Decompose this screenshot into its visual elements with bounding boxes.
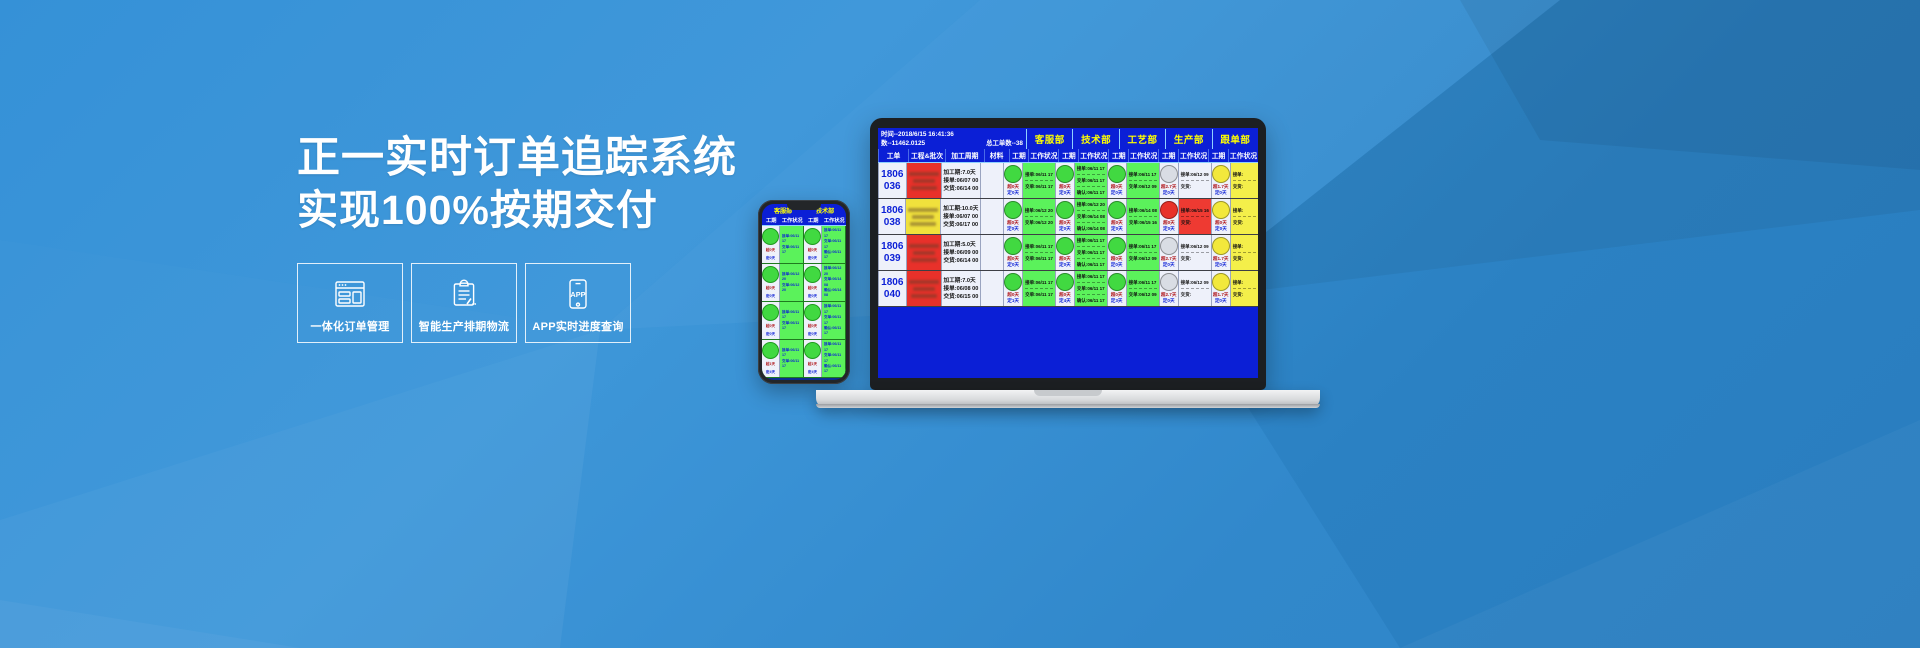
status-dot xyxy=(762,304,779,321)
status-dot xyxy=(1056,201,1074,219)
overdue-tag: 超0天 xyxy=(1007,184,1019,190)
phone-col-label: 工作状况 xyxy=(780,216,804,225)
divider xyxy=(1181,180,1209,181)
cycle-line: 加工期:10.0天 xyxy=(943,205,978,213)
divider xyxy=(1181,252,1209,253)
status-line: 确认:06/14 08 xyxy=(1077,225,1105,232)
status-dot xyxy=(1212,165,1230,183)
status-dot xyxy=(1004,165,1022,183)
material-cell[interactable] xyxy=(980,235,1003,270)
phone-status-cell: 接单:06/11 17交单:06/11 17 xyxy=(780,302,804,339)
remaining-tag: 定0天 xyxy=(1007,190,1019,196)
remaining-tag: 定0天 xyxy=(1163,190,1175,196)
overdue-tag: 超0天 xyxy=(1163,220,1175,226)
remaining-tag: 定4天 xyxy=(766,370,775,375)
status-line: 交货: xyxy=(1233,219,1256,226)
dashboard-col-label[interactable]: 工程&批次 xyxy=(908,149,945,162)
order-number-cell[interactable]: 1806039 xyxy=(878,235,906,270)
remaining-tag: 定1天 xyxy=(1007,298,1019,304)
remaining-tag: 定0天 xyxy=(1163,226,1175,232)
dashboard-amount: 数--11462.0125 xyxy=(881,139,925,148)
overdue-tag: 超0天 xyxy=(766,248,775,253)
remaining-tag: 定0天 xyxy=(766,332,775,337)
work-status-cell[interactable]: 接单:06/11 17交单:06/11 17 xyxy=(1022,271,1055,306)
dashboard-col-label[interactable]: 材料 xyxy=(984,149,1009,162)
processing-cycle-cell: 加工期:10.0天接单:06/07 00交货:06/17 00 xyxy=(940,199,980,234)
divider xyxy=(1025,216,1053,217)
status-line: 交单:06/11 17 xyxy=(1025,291,1053,298)
cycle-line: 接单:06/07 00 xyxy=(943,213,978,221)
duration-cell: 超0天定0天 xyxy=(1055,199,1074,234)
status-line: 接单: xyxy=(1233,243,1256,250)
cycle-line: 交货:06/14 00 xyxy=(944,257,979,265)
work-status-cell[interactable]: 接单:交货: xyxy=(1230,235,1258,270)
phone-duration-cell: 超0天定0天 xyxy=(762,302,780,339)
remaining-tag: 定0天 xyxy=(1215,190,1227,196)
project-batch-cell[interactable] xyxy=(906,271,941,306)
duration-cell: 超2.7天定0天 xyxy=(1159,271,1178,306)
overdue-tag: 超2.7天 xyxy=(1161,184,1177,190)
work-status-cell[interactable]: 接单:06/12 09交货: xyxy=(1178,271,1211,306)
overdue-tag: 超0天 xyxy=(1111,256,1123,262)
work-status-cell[interactable]: 接单:06/11 17交单:06/12 09 xyxy=(1126,163,1159,198)
dashboard-meta: 时间--2018/6/15 16:41:36 数--11462.0125 总工单… xyxy=(878,129,1026,149)
status-line: 交单:06/15 16 xyxy=(1129,219,1157,226)
cycle-line: 交货:06/15 00 xyxy=(944,293,979,301)
dashboard-col-label[interactable]: 工作状况 xyxy=(1028,149,1058,162)
dashboard-order-table: 1806036加工期:7.0天接单:06/07 00交货:06/14 00超0天… xyxy=(878,163,1258,307)
overdue-tag: 超1.7天 xyxy=(1213,256,1229,262)
divider xyxy=(1077,174,1105,175)
status-dot xyxy=(1108,165,1126,183)
cycle-line: 加工期:7.0天 xyxy=(944,277,979,285)
dashboard-dept-label[interactable]: 技术部 xyxy=(1072,129,1118,149)
mobile-app-icon: APP xyxy=(566,276,590,312)
dashboard-col-label[interactable]: 加工周期 xyxy=(945,149,984,162)
status-line: 交单:06/12 20 xyxy=(782,283,801,294)
cycle-line: 接单:06/09 00 xyxy=(944,249,979,257)
remaining-tag: 定0天 xyxy=(1163,298,1175,304)
status-line: 交货: xyxy=(1181,219,1209,226)
cycle-line: 加工期:5.0天 xyxy=(944,241,979,249)
divider xyxy=(1077,210,1105,211)
remaining-tag: 定0天 xyxy=(1059,262,1071,268)
divider xyxy=(1129,288,1157,289)
phone-status-cell: 接单:06/11 17交单:06/11 17 xyxy=(780,226,804,263)
divider xyxy=(1233,288,1256,289)
status-dot xyxy=(762,228,779,245)
duration-cell: 超0天定0天 xyxy=(1055,235,1074,270)
overdue-tag: 超0天 xyxy=(1059,292,1071,298)
divider xyxy=(1025,288,1053,289)
status-dot xyxy=(1004,237,1022,255)
overdue-tag: 超0天 xyxy=(766,286,775,291)
status-dot xyxy=(1212,237,1230,255)
remaining-tag: 定0天 xyxy=(1111,262,1123,268)
order-number-part: 038 xyxy=(884,217,901,229)
order-number-part: 1806 xyxy=(881,241,903,253)
laptop-screen[interactable]: 时间--2018/6/15 16:41:36 数--11462.0125 总工单… xyxy=(878,128,1258,378)
divider xyxy=(1181,288,1209,289)
status-line: 接单:06/11 17 xyxy=(782,348,801,359)
overdue-tag: 超2.7天 xyxy=(1161,256,1177,262)
status-line: 接单:06/12 20 xyxy=(1025,207,1053,214)
remaining-tag: 定0天 xyxy=(1111,190,1123,196)
duration-cell: 超0天定0天 xyxy=(1003,163,1022,198)
overdue-tag: 超0天 xyxy=(1007,256,1019,262)
status-dot xyxy=(1160,237,1178,255)
work-status-cell[interactable]: 接单:06/11 17交单:06/11 17确认:06/11 17 xyxy=(1074,235,1107,270)
status-line: 交单:06/11 17 xyxy=(1077,285,1105,292)
work-status-cell[interactable]: 接单:06/12 20交单:06/14 08确认:06/14 08 xyxy=(1074,199,1107,234)
divider xyxy=(1077,222,1105,223)
status-line: 交单:06/11 17 xyxy=(1077,249,1105,256)
status-line: 接单:06/11 17 xyxy=(1077,165,1105,172)
status-dot xyxy=(1056,237,1074,255)
project-batch-cell[interactable] xyxy=(905,199,940,234)
redacted-text xyxy=(913,179,935,183)
dashboard-col-label[interactable]: 工期 xyxy=(1009,149,1029,162)
overdue-tag: 超0天 xyxy=(1007,220,1019,226)
phone-duration-cell: 超1天定4天 xyxy=(762,340,780,377)
headline-line-1: 正一实时订单追踪系统 xyxy=(297,132,717,184)
feature-label: 智能生产排期物流 xyxy=(419,318,509,334)
overdue-tag: 超0天 xyxy=(1215,220,1227,226)
phone-duration-cell: 超0天定0天 xyxy=(762,264,780,301)
dashboard-col-label[interactable]: 工期 xyxy=(1058,149,1078,162)
duration-cell: 超0天定3天 xyxy=(1107,271,1126,306)
dashboard-total-orders: 总工单数--38 xyxy=(986,139,1023,148)
status-line: 接单: xyxy=(1233,207,1256,214)
status-dot xyxy=(762,342,779,359)
divider xyxy=(1233,252,1256,253)
dashboard-order-row[interactable]: 1806040加工期:7.0天接单:06/08 00交货:06/15 00超0天… xyxy=(878,271,1258,307)
dashboard-order-row[interactable]: 1806036加工期:7.0天接单:06/07 00交货:06/14 00超0天… xyxy=(878,163,1258,199)
redacted-text xyxy=(909,244,939,248)
status-line: 交货: xyxy=(1233,255,1256,262)
divider xyxy=(1077,294,1105,295)
dashboard-col-label[interactable]: 工期 xyxy=(1208,149,1228,162)
duration-cell: 超0天定0天 xyxy=(1107,163,1126,198)
status-line: 接单:06/12 09 xyxy=(1181,171,1209,178)
duration-cell: 超1.7天定0天 xyxy=(1211,163,1230,198)
status-dot xyxy=(1212,273,1230,291)
processing-cycle-cell: 加工期:7.0天接单:06/07 00交货:06/14 00 xyxy=(941,163,981,198)
status-line: 接单:06/12 20 xyxy=(1077,201,1105,208)
status-line: 接单:06/14 08 xyxy=(1129,207,1157,214)
work-status-cell[interactable]: 接单:交货: xyxy=(1230,199,1258,234)
feature-card-app-progress[interactable]: APP APP实时进度查询 xyxy=(525,263,631,343)
duration-cell: 超2.7天定0天 xyxy=(1159,235,1178,270)
work-status-cell[interactable]: 接单:06/15 16交货: xyxy=(1178,199,1211,234)
status-line: 交货: xyxy=(1181,255,1209,262)
laptop-lid: 时间--2018/6/15 16:41:36 数--11462.0125 总工单… xyxy=(870,118,1266,390)
feature-label: 一体化订单管理 xyxy=(310,318,389,334)
feature-card-order-management[interactable]: 一体化订单管理 xyxy=(297,263,403,343)
status-line: 交单:06/12 09 xyxy=(1129,255,1157,262)
status-line: 接单:06/11 17 xyxy=(782,310,801,321)
duration-cell: 超0天定0天 xyxy=(1107,235,1126,270)
divider xyxy=(1181,216,1209,217)
duration-cell: 超0天定0天 xyxy=(1003,235,1022,270)
divider xyxy=(1233,180,1256,181)
material-cell[interactable] xyxy=(980,163,1003,198)
status-line: 交货: xyxy=(1233,183,1256,190)
overdue-tag: 超1.7天 xyxy=(1213,292,1229,298)
redacted-text xyxy=(913,251,935,255)
dashboard-department-row: 客服部技术部工艺部生产部跟单部 xyxy=(1026,129,1258,149)
laptop-base-notch xyxy=(1034,390,1102,396)
duration-cell: 超0天定1天 xyxy=(1003,271,1022,306)
divider xyxy=(1077,282,1105,283)
order-number-part: 036 xyxy=(884,181,901,193)
status-dot xyxy=(1108,201,1126,219)
work-status-cell[interactable]: 接单:交货: xyxy=(1230,163,1258,198)
work-status-cell[interactable]: 接单:06/11 17交单:06/11 17确认:06/11 17 xyxy=(1074,163,1107,198)
cycle-line: 接单:06/08 00 xyxy=(944,285,979,293)
work-status-cell[interactable]: 接单:06/11 17交单:06/12 09 xyxy=(1126,235,1159,270)
status-line: 接单:06/12 09 xyxy=(1181,243,1209,250)
order-number-part: 040 xyxy=(884,289,901,301)
material-cell[interactable] xyxy=(980,199,1002,234)
remaining-tag: 定0天 xyxy=(766,256,775,261)
status-line: 交货: xyxy=(1233,291,1256,298)
project-batch-cell[interactable] xyxy=(906,163,941,198)
dashboard-order-row[interactable]: 1806039加工期:5.0天接单:06/09 00交货:06/14 00超0天… xyxy=(878,235,1258,271)
status-line: 交货: xyxy=(1181,291,1209,298)
dashboard-window-icon xyxy=(334,276,366,312)
overdue-tag: 超0天 xyxy=(1111,184,1123,190)
hero-copy: 正一实时订单追踪系统 实现100%按期交付 xyxy=(297,132,717,236)
status-line: 接单:06/12 09 xyxy=(1181,279,1209,286)
status-dot xyxy=(1004,201,1022,219)
overdue-tag: 超0天 xyxy=(1111,292,1123,298)
redacted-text xyxy=(913,287,935,291)
work-status-cell[interactable]: 接单:06/11 17交单:06/12 09 xyxy=(1126,271,1159,306)
work-status-cell[interactable]: 接单:06/14 08交单:06/15 16 xyxy=(1126,199,1159,234)
overdue-tag: 超0天 xyxy=(1059,184,1071,190)
status-line: 交单:06/11 17 xyxy=(782,321,801,332)
overdue-tag: 超0天 xyxy=(1007,292,1019,298)
dashboard-col-label[interactable]: 工单 xyxy=(878,149,908,162)
duration-cell: 超2.7天定0天 xyxy=(1159,163,1178,198)
work-status-cell[interactable]: 接单:06/12 09交货: xyxy=(1178,163,1211,198)
status-line: 确认:06/11 17 xyxy=(1077,189,1105,196)
status-dot xyxy=(1160,273,1178,291)
duration-cell: 超0天定0天 xyxy=(1211,199,1230,234)
order-number-part: 039 xyxy=(884,253,901,265)
status-line: 接单:06/11 17 xyxy=(1025,243,1053,250)
remaining-tag: 定0天 xyxy=(1215,226,1227,232)
dashboard-col-label[interactable]: 工作状况 xyxy=(1128,149,1158,162)
order-number-part: 1806 xyxy=(881,277,903,289)
status-line: 交单:06/11 17 xyxy=(1025,183,1053,190)
redacted-text xyxy=(910,222,936,226)
status-dot xyxy=(1056,165,1074,183)
dashboard-dept-label[interactable]: 客服部 xyxy=(1026,129,1072,149)
work-status-cell[interactable]: 接单:06/12 09交货: xyxy=(1178,235,1211,270)
remaining-tag: 定4天 xyxy=(1059,298,1071,304)
status-line: 接单: xyxy=(1233,171,1256,178)
phone-status-cell: 接单:06/11 17交单:06/11 17 xyxy=(780,340,804,377)
status-line: 接单: xyxy=(1233,279,1256,286)
cycle-line: 交货:06/14 00 xyxy=(944,185,979,193)
status-dot xyxy=(1160,201,1178,219)
status-line: 交单:06/14 08 xyxy=(1077,213,1105,220)
divider xyxy=(1077,246,1105,247)
overdue-tag: 超0天 xyxy=(1059,256,1071,262)
dashboard-column-row: 工单工程&批次加工周期材料工期工作状况工期工作状况工期工作状况工期工作状况工期工… xyxy=(878,149,1258,163)
status-dot xyxy=(1212,201,1230,219)
overdue-tag: 超0天 xyxy=(766,324,775,329)
remaining-tag: 定0天 xyxy=(1007,226,1019,232)
status-line: 交单:06/11 17 xyxy=(782,359,801,370)
phone-notch xyxy=(787,204,821,210)
status-dot xyxy=(1108,237,1126,255)
cycle-line: 加工期:7.0天 xyxy=(944,169,979,177)
status-line: 接单:06/11 17 xyxy=(1025,279,1053,286)
dashboard-header: 时间--2018/6/15 16:41:36 数--11462.0125 总工单… xyxy=(878,128,1258,149)
laptop-base xyxy=(816,390,1320,408)
overdue-tag: 超0天 xyxy=(1111,220,1123,226)
status-line: 交单:06/11 17 xyxy=(1025,255,1053,262)
work-status-cell[interactable]: 接单:06/11 17交单:06/11 17 xyxy=(1022,235,1055,270)
status-dot xyxy=(762,266,779,283)
order-number-cell[interactable]: 1806038 xyxy=(878,199,905,234)
feature-list: 一体化订单管理 智能生产排期物流 APP AP xyxy=(297,263,631,343)
work-status-cell[interactable]: 接单:交货: xyxy=(1230,271,1258,306)
status-dot xyxy=(1108,273,1126,291)
status-line: 交单:06/11 17 xyxy=(782,245,801,256)
order-number-part: 1806 xyxy=(881,169,903,181)
divider xyxy=(1233,216,1256,217)
dashboard-time: 时间--2018/6/15 16:41:36 xyxy=(881,130,954,139)
status-line: 接单:06/11 17 xyxy=(1129,279,1157,286)
redacted-text xyxy=(909,172,939,176)
feature-card-production-scheduling[interactable]: 智能生产排期物流 xyxy=(411,263,517,343)
work-status-cell[interactable]: 接单:06/12 20交单:06/12 20 xyxy=(1022,199,1055,234)
processing-cycle-cell: 加工期:7.0天接单:06/08 00交货:06/15 00 xyxy=(941,271,981,306)
divider xyxy=(1077,186,1105,187)
dashboard-dept-label[interactable]: 跟单部 xyxy=(1212,129,1258,149)
material-cell[interactable] xyxy=(980,271,1003,306)
status-line: 接单:06/15 16 xyxy=(1181,207,1209,214)
remaining-tag: 定0天 xyxy=(1215,298,1227,304)
order-number-cell[interactable]: 1806036 xyxy=(878,163,906,198)
status-line: 接单:06/11 17 xyxy=(1129,171,1157,178)
overdue-tag: 超0天 xyxy=(1059,220,1071,226)
phone-col-label: 工期 xyxy=(762,216,780,225)
status-line: 接单:06/12 20 xyxy=(782,272,801,283)
status-line: 交单:06/12 09 xyxy=(1129,183,1157,190)
status-line: 接单:06/11 17 xyxy=(1129,243,1157,250)
overdue-tag: 超2.7天 xyxy=(1161,292,1177,298)
phone-duration-cell: 超0天定0天 xyxy=(762,226,780,263)
redacted-text xyxy=(911,294,937,298)
remaining-tag: 定0天 xyxy=(1007,262,1019,268)
remaining-tag: 定0天 xyxy=(1111,226,1123,232)
redacted-text xyxy=(911,258,937,262)
clipboard-schedule-icon xyxy=(449,276,479,312)
order-number-part: 1806 xyxy=(881,205,903,217)
work-status-cell[interactable]: 接单:06/11 17交单:06/11 17 xyxy=(1022,163,1055,198)
order-number-cell[interactable]: 1806040 xyxy=(878,271,906,306)
duration-cell: 超0天定0天 xyxy=(1055,163,1074,198)
divider xyxy=(1129,252,1157,253)
divider xyxy=(1129,180,1157,181)
divider xyxy=(1025,252,1053,253)
status-line: 接单:06/11 17 xyxy=(782,234,801,245)
redacted-text xyxy=(911,186,937,190)
status-line: 确认:06/11 17 xyxy=(1077,261,1105,268)
status-dot xyxy=(1160,165,1178,183)
status-line: 接单:06/11 17 xyxy=(1025,171,1053,178)
remaining-tag: 定0天 xyxy=(1215,262,1227,268)
redacted-text xyxy=(909,280,939,284)
dashboard-dept-label[interactable]: 生产部 xyxy=(1165,129,1211,149)
cycle-line: 接单:06/07 00 xyxy=(944,177,979,185)
status-line: 接单:06/11 17 xyxy=(1077,273,1105,280)
status-dot xyxy=(1004,273,1022,291)
divider xyxy=(1025,180,1053,181)
status-line: 交单:06/11 17 xyxy=(1077,177,1105,184)
remaining-tag: 定0天 xyxy=(766,294,775,299)
cycle-line: 交货:06/17 00 xyxy=(943,221,978,229)
remaining-tag: 定0天 xyxy=(1059,190,1071,196)
redacted-text xyxy=(912,215,934,219)
laptop-mockup: 时间--2018/6/15 16:41:36 数--11462.0125 总工单… xyxy=(816,118,1320,418)
phone-status-cell: 接单:06/12 20交单:06/12 20 xyxy=(780,264,804,301)
duration-cell: 超0天定0天 xyxy=(1159,199,1178,234)
redacted-text xyxy=(908,208,938,212)
remaining-tag: 定0天 xyxy=(1163,262,1175,268)
status-line: 交货: xyxy=(1181,183,1209,190)
status-line: 接单:06/11 17 xyxy=(1077,237,1105,244)
duration-cell: 超0天定0天 xyxy=(1107,199,1126,234)
divider xyxy=(1129,216,1157,217)
headline-line-2: 实现100%按期交付 xyxy=(297,184,717,236)
project-batch-cell[interactable] xyxy=(906,235,941,270)
duration-cell: 超1.7天定0天 xyxy=(1211,271,1230,306)
dashboard-col-label[interactable]: 工期 xyxy=(1158,149,1178,162)
feature-label: APP实时进度查询 xyxy=(532,318,623,334)
dashboard-col-label[interactable]: 工作状况 xyxy=(1178,149,1208,162)
dashboard-order-row[interactable]: 1806038加工期:10.0天接单:06/07 00交货:06/17 00超0… xyxy=(878,199,1258,235)
dashboard-dept-label[interactable]: 工艺部 xyxy=(1119,129,1165,149)
duration-cell: 超0天定4天 xyxy=(1055,271,1074,306)
remaining-tag: 定0天 xyxy=(1059,226,1071,232)
processing-cycle-cell: 加工期:5.0天接单:06/09 00交货:06/14 00 xyxy=(941,235,981,270)
dashboard-col-label[interactable]: 工作状况 xyxy=(1228,149,1258,162)
dashboard-col-label[interactable]: 工期 xyxy=(1108,149,1128,162)
overdue-tag: 超1.7天 xyxy=(1213,184,1229,190)
status-line: 交单:06/12 09 xyxy=(1129,291,1157,298)
overdue-tag: 超1天 xyxy=(766,362,775,367)
divider xyxy=(1077,258,1105,259)
laptop-base-edge xyxy=(816,404,1320,408)
duration-cell: 超1.7天定0天 xyxy=(1211,235,1230,270)
svg-text:APP: APP xyxy=(570,290,585,299)
work-status-cell[interactable]: 接单:06/11 17交单:06/11 17确认:06/11 17 xyxy=(1074,271,1107,306)
dashboard-col-label[interactable]: 工作状况 xyxy=(1078,149,1108,162)
status-line: 确认:06/11 17 xyxy=(1077,297,1105,304)
status-dot xyxy=(1056,273,1074,291)
remaining-tag: 定3天 xyxy=(1111,298,1123,304)
status-line: 交单:06/12 20 xyxy=(1025,219,1053,226)
duration-cell: 超0天定0天 xyxy=(1003,199,1022,234)
